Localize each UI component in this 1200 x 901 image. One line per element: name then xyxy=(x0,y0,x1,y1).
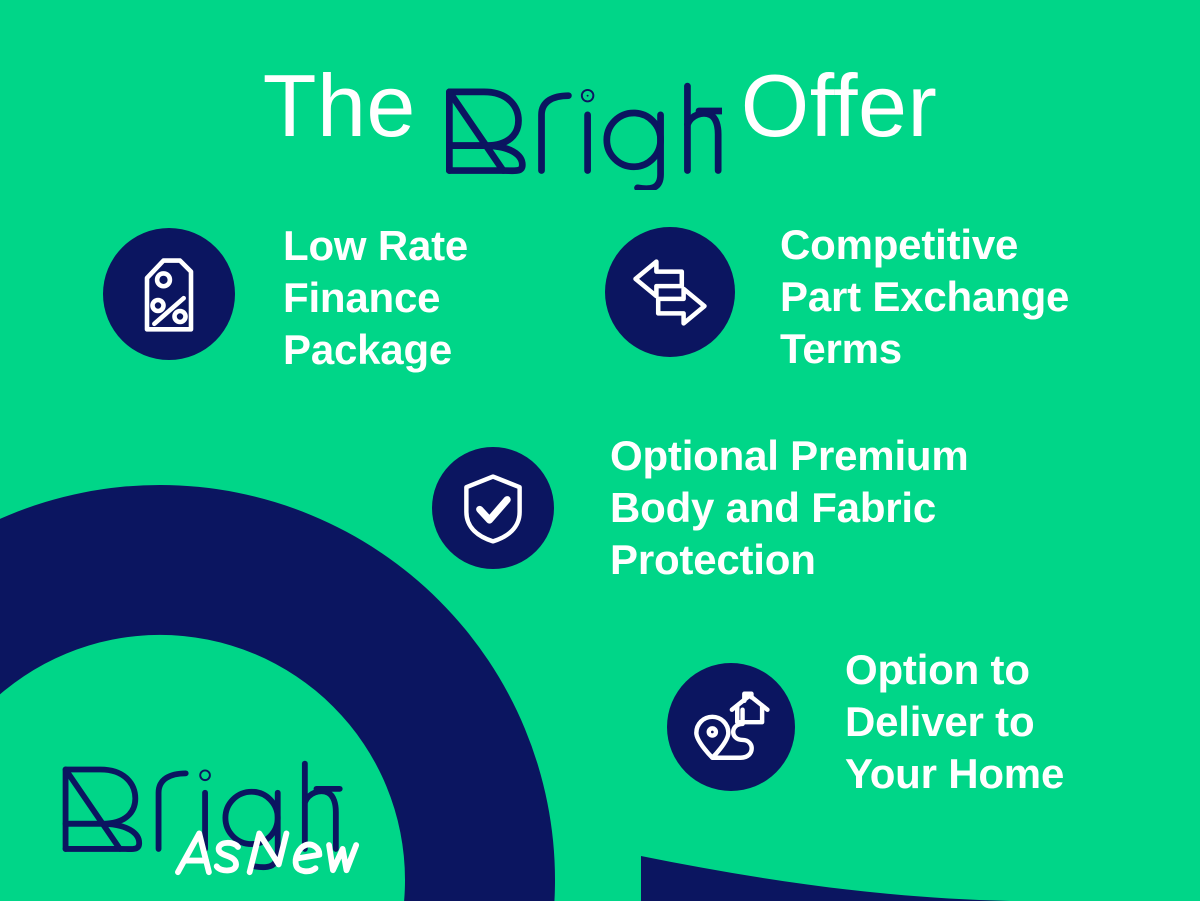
exchange-arrows-icon xyxy=(631,257,709,328)
decorative-corner-shape xyxy=(641,856,1010,901)
bright-wordmark-icon xyxy=(434,82,722,190)
feature-body-fabric-protection: Optional Premium Body and Fabric Protect… xyxy=(432,447,969,586)
feature-label: Optional Premium Body and Fabric Protect… xyxy=(610,430,969,586)
feature-part-exchange: Competitive Part Exchange Terms xyxy=(605,227,1069,375)
brand-logo-bright-as-new xyxy=(52,752,362,878)
title-prefix: The xyxy=(263,62,416,150)
bright-offer-poster: The xyxy=(0,0,1200,901)
feature-home-delivery: Option to Deliver to Your Home xyxy=(667,663,1064,800)
feature-icon-badge xyxy=(103,228,235,360)
price-tag-percent-icon xyxy=(136,256,202,333)
title-suffix: Offer xyxy=(741,62,938,150)
feature-icon-badge xyxy=(432,447,554,569)
feature-label: Competitive Part Exchange Terms xyxy=(780,219,1069,375)
page-title: The xyxy=(0,62,1200,186)
feature-icon-badge xyxy=(605,227,735,357)
shield-check-icon xyxy=(461,473,525,544)
feature-low-rate-finance: Low Rate Finance Package xyxy=(103,228,468,376)
feature-label: Option to Deliver to Your Home xyxy=(845,644,1064,800)
map-pin-route-house-icon xyxy=(691,690,771,765)
feature-icon-badge xyxy=(667,663,795,791)
feature-label: Low Rate Finance Package xyxy=(283,220,468,376)
